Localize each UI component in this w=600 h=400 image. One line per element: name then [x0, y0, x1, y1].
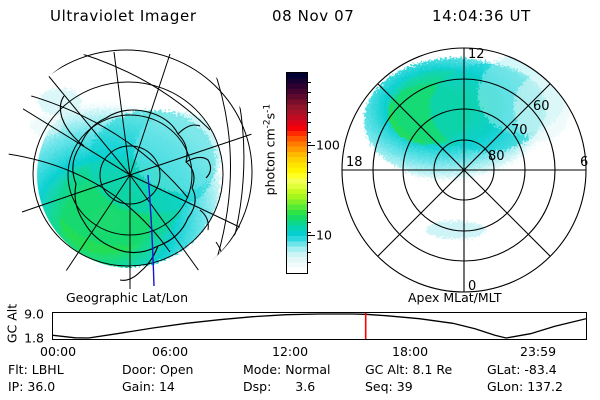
status-gcalt: GC Alt: 8.1 Re — [365, 362, 452, 377]
status-door-label: Door: — [122, 362, 156, 377]
colorbar-major-tick-100 — [307, 145, 315, 146]
magnetic-graticule — [342, 48, 586, 292]
status-bar: Flt: LBHL IP: 36.0 Door: Open Gain: 14 M… — [0, 362, 600, 400]
status-mode-label: Mode: — [243, 362, 281, 377]
status-door-value: Open — [160, 362, 193, 377]
colorbar-box — [286, 72, 308, 274]
colorbar-minor-tick — [307, 92, 311, 93]
status-mode-value: Normal — [285, 362, 330, 377]
status-mode: Mode: Normal — [243, 362, 331, 377]
colorbar-gradient — [287, 73, 307, 273]
status-ip-value: 36.0 — [27, 379, 55, 394]
orbit-ytick-min: 1.8 — [10, 331, 44, 346]
status-door: Door: Open — [122, 362, 193, 377]
status-glon-label: GLon: — [487, 379, 523, 394]
observation-date: 08 Nov 07 — [272, 7, 354, 25]
colorbar-minor-tick — [307, 182, 311, 183]
colorbar-minor-tick — [307, 132, 311, 133]
observation-time: 14:04:36 UT — [432, 7, 531, 25]
status-filter-label: Flt: — [8, 362, 28, 377]
orbit-ytick-max: 9.0 — [10, 307, 44, 322]
colorbar-minor-tick — [307, 102, 311, 103]
colorbar-minor-tick — [307, 262, 311, 263]
status-gain: Gain: 14 — [122, 379, 175, 394]
status-glat-value: -83.4 — [524, 362, 556, 377]
colorbar-units-sup1: -2 — [262, 119, 272, 128]
colorbar-minor-tick — [307, 232, 311, 233]
magnetic-svg: 12 18 6 0 60 70 80 — [336, 42, 598, 294]
instrument-title: Ultraviolet Imager — [50, 7, 197, 25]
mlat-ring-70: 70 — [511, 123, 528, 138]
status-glon: GLon: 137.2 — [487, 379, 563, 394]
status-gain-value: 14 — [159, 379, 175, 394]
orbit-xtick-0600: 06:00 — [152, 344, 188, 359]
magnetic-polar-plot[interactable]: 12 18 6 0 60 70 80 — [336, 42, 598, 294]
status-gcalt-label: GC Alt: — [365, 362, 409, 377]
colorbar-minor-tick — [307, 252, 311, 253]
status-filter-value: LBHL — [32, 362, 64, 377]
geographic-polar-plot[interactable] — [2, 42, 260, 292]
mlt-label-18: 18 — [346, 155, 363, 170]
status-seq-label: Seq: — [365, 379, 393, 394]
colorbar-minor-tick — [307, 122, 311, 123]
colorbar-units-mid: s — [263, 113, 278, 120]
status-glon-value: 137.2 — [527, 379, 563, 394]
colorbar-units-sup2: -1 — [262, 104, 272, 113]
orbit-altitude-curve — [53, 314, 586, 338]
orbit-altitude-strip[interactable]: GC Alt 9.0 1.8 00:0006:0012:0018:0023:59 — [0, 300, 600, 356]
magnetic-aurora-layer — [364, 54, 570, 239]
status-dsp-label: Dsp: — [243, 379, 271, 394]
status-ip-label: IP: — [8, 379, 23, 394]
status-seq: Seq: 39 — [365, 379, 413, 394]
orbit-plot-area[interactable] — [52, 312, 587, 340]
colorbar[interactable]: 10010 photon cm-2s-1 — [258, 70, 336, 276]
colorbar-axis-label: photon cm-2s-1 — [262, 75, 277, 225]
status-seq-value: 39 — [397, 379, 413, 394]
colorbar-minor-tick — [307, 192, 311, 193]
orbit-xtick-1800: 18:00 — [392, 344, 428, 359]
mlt-label-6: 6 — [580, 155, 588, 170]
colorbar-minor-tick — [307, 242, 311, 243]
mlt-label-12: 12 — [468, 47, 485, 62]
geographic-svg — [2, 42, 260, 292]
status-ip: IP: 36.0 — [8, 379, 55, 394]
status-filter: Flt: LBHL — [8, 362, 64, 377]
colorbar-tick-label-10: 10 — [316, 228, 332, 243]
status-dsp: Dsp: 3.6 — [243, 379, 315, 394]
status-gain-label: Gain: — [122, 379, 155, 394]
colorbar-major-tick-10 — [307, 235, 315, 236]
orbit-xtick-1200: 12:00 — [272, 344, 308, 359]
colorbar-minor-tick — [307, 222, 311, 223]
colorbar-minor-tick — [307, 152, 311, 153]
orbit-xtick-0000: 00:00 — [40, 344, 76, 359]
colorbar-minor-tick — [307, 112, 311, 113]
colorbar-units-main: photon cm — [263, 128, 278, 195]
colorbar-minor-tick — [307, 82, 311, 83]
colorbar-minor-tick — [307, 142, 311, 143]
colorbar-minor-tick — [307, 172, 311, 173]
status-glat-label: GLat: — [487, 362, 520, 377]
colorbar-minor-tick — [307, 212, 311, 213]
uvi-display: Ultraviolet Imager 08 Nov 07 14:04:36 UT — [0, 0, 600, 400]
colorbar-minor-tick — [307, 162, 311, 163]
colorbar-minor-tick — [307, 202, 311, 203]
status-gcalt-value: 8.1 Re — [413, 362, 453, 377]
mlat-ring-80: 80 — [488, 149, 505, 164]
header-bar: Ultraviolet Imager 08 Nov 07 14:04:36 UT — [0, 5, 600, 33]
status-glat: GLat: -83.4 — [487, 362, 557, 377]
orbit-xtick-2359: 23:59 — [520, 344, 556, 359]
orbit-curve-svg — [53, 313, 586, 339]
mlat-ring-60: 60 — [533, 99, 550, 114]
status-dsp-value: 3.6 — [295, 379, 315, 394]
